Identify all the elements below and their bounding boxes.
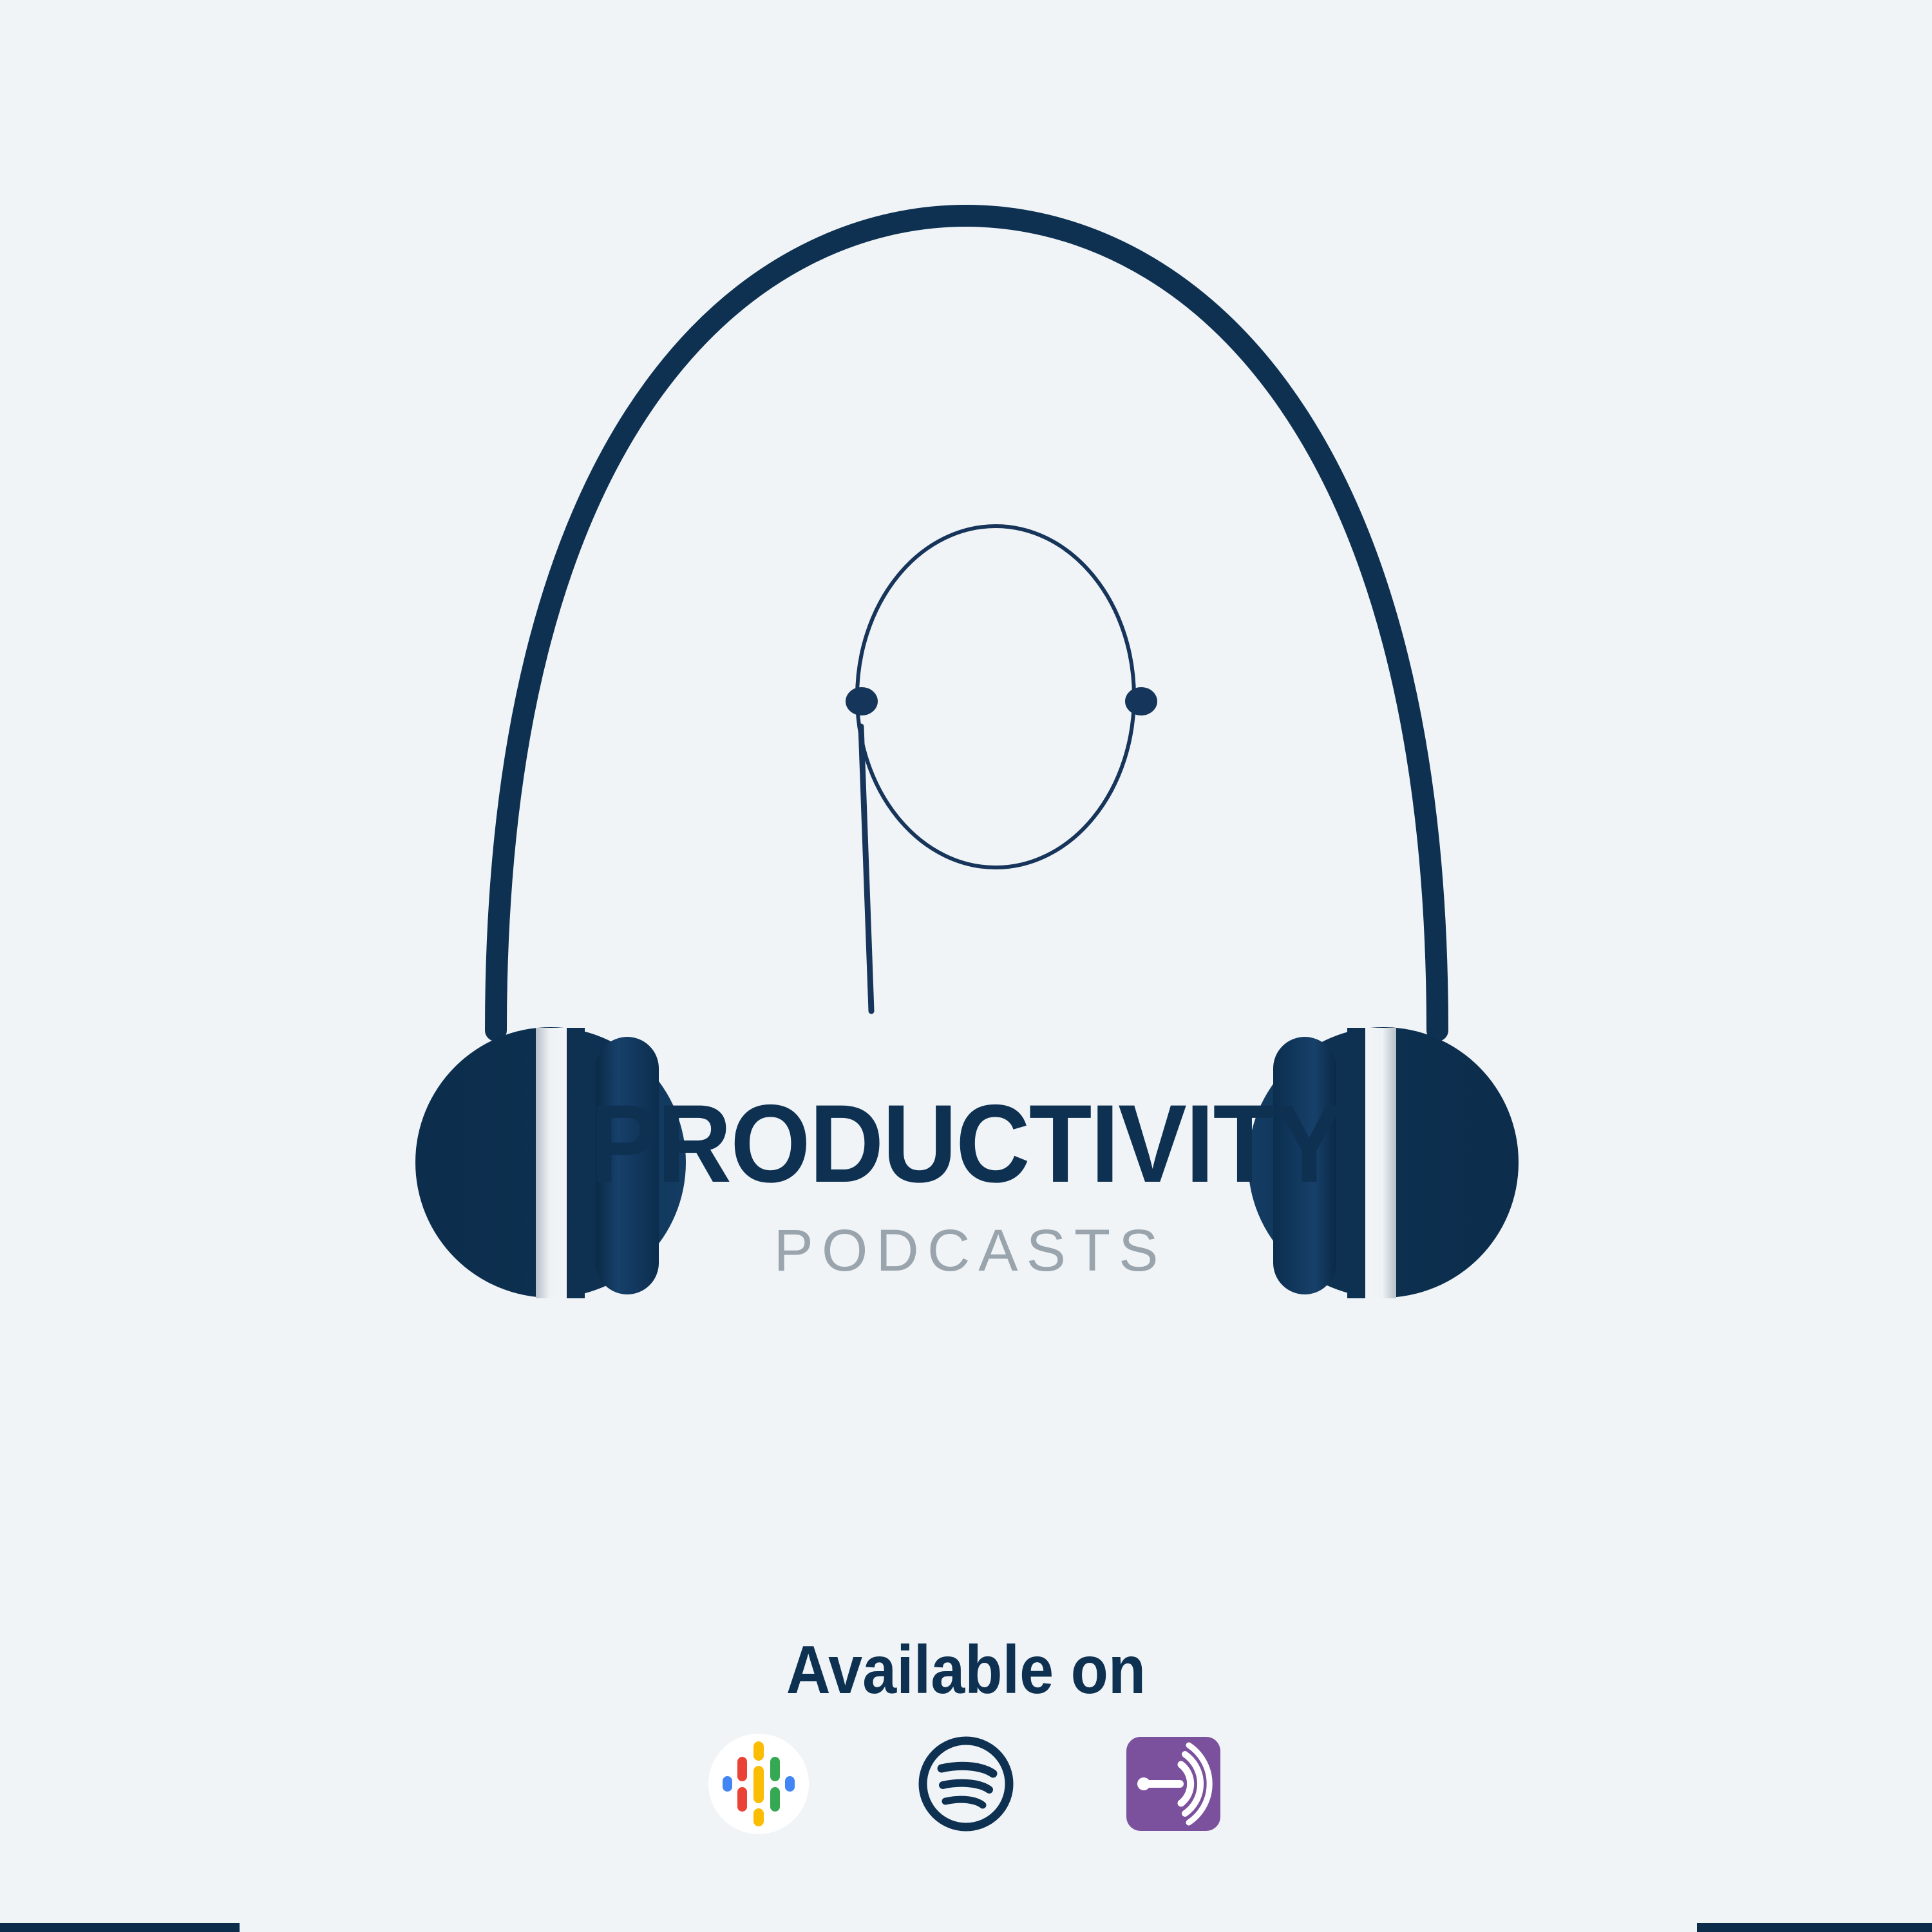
podcast-cover-art: PRODUCTIVITY PODCASTS Available on — [0, 0, 1932, 1932]
bottom-edge-bar-left — [0, 1923, 240, 1932]
brand-title: PRODUCTIVITY — [68, 1088, 1864, 1199]
ear-dot-left — [846, 687, 878, 715]
available-on-section: Available on — [0, 1636, 1932, 1704]
spotify-badge[interactable] — [914, 1732, 1018, 1835]
google-podcasts-icon — [707, 1732, 810, 1835]
headband-arc — [496, 216, 1437, 1030]
ear-dot-right — [1125, 687, 1157, 715]
p-stem — [861, 726, 871, 1011]
spotify-icon — [914, 1732, 1018, 1835]
anchor-icon — [1122, 1732, 1225, 1835]
anchor-badge[interactable] — [1122, 1732, 1225, 1835]
google-podcasts-badge[interactable] — [707, 1732, 810, 1835]
bottom-edge-bar-right — [1697, 1923, 1932, 1932]
wordmark: PRODUCTIVITY PODCASTS — [0, 1088, 1932, 1280]
head-outline — [857, 526, 1134, 867]
available-on-label: Available on — [97, 1636, 1835, 1704]
brand-subtitle: PODCASTS — [0, 1221, 1932, 1280]
platform-badge-row — [0, 1732, 1932, 1835]
